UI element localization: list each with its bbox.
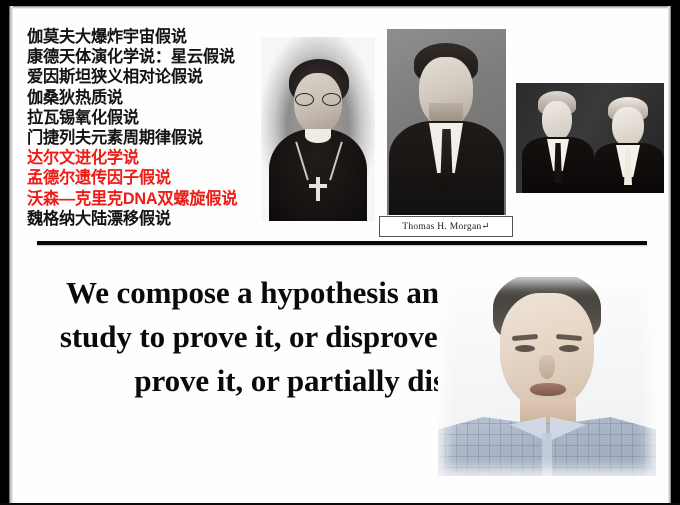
presenter-shirt-placket bbox=[542, 433, 552, 476]
section-divider-shadow bbox=[37, 245, 647, 247]
screen-share-capture: 伽莫夫大爆炸宇宙假说 康德天体演化学说：星云假说 爱因斯坦狭义相对论假说 伽桑狄… bbox=[0, 0, 680, 505]
eyeglasses-icon bbox=[294, 93, 342, 104]
presenter-mouth bbox=[530, 383, 566, 396]
portrait-face bbox=[542, 101, 572, 141]
presenter-eye-right bbox=[559, 345, 579, 352]
portrait-photo-watson-crick bbox=[516, 83, 664, 193]
frame-seam-top bbox=[9, 6, 671, 9]
hypothesis-item: 伽桑狄热质说 bbox=[27, 88, 277, 108]
hypothesis-item: 康德天体演化学说：星云假说 bbox=[27, 47, 277, 67]
hypothesis-item-highlighted: 沃森—克里克DNA双螺旋假说 bbox=[27, 189, 277, 209]
cross-pendant-icon bbox=[316, 177, 320, 201]
frame-seam-left bbox=[9, 6, 13, 505]
hypothesis-item: 拉瓦锡氧化假说 bbox=[27, 108, 277, 128]
presenter-video-overlay[interactable] bbox=[438, 277, 656, 476]
frame-border-top bbox=[0, 0, 680, 6]
presenter-nose bbox=[539, 355, 555, 379]
frame-border-right bbox=[671, 0, 680, 505]
hypothesis-list: 伽莫夫大爆炸宇宙假说 康德天体演化学说：星云假说 爱因斯坦狭义相对论假说 伽桑狄… bbox=[27, 27, 277, 229]
presenter-eye-left bbox=[515, 345, 535, 352]
portrait-photo-mendel bbox=[261, 37, 375, 221]
hypothesis-item: 伽莫夫大爆炸宇宙假说 bbox=[27, 27, 277, 47]
hypothesis-item: 门捷列夫元素周期律假说 bbox=[27, 128, 277, 148]
frame-border-left bbox=[0, 0, 9, 505]
cross-pendant-bar bbox=[309, 184, 327, 188]
photo-caption-morgan: Thomas H. Morgan↵ bbox=[379, 216, 513, 237]
portrait-collar bbox=[305, 129, 331, 143]
hypothesis-item-highlighted: 达尔文进化学说 bbox=[27, 148, 277, 168]
slide-upper-section: 伽莫夫大爆炸宇宙假说 康德天体演化学说：星云假说 爱因斯坦狭义相对论假说 伽桑狄… bbox=[13, 9, 669, 242]
hypothesis-item: 爱因斯坦狭义相对论假说 bbox=[27, 67, 277, 87]
portrait-photo-morgan bbox=[387, 29, 506, 215]
hypothesis-item-highlighted: 孟德尔遗传因子假说 bbox=[27, 168, 277, 188]
hypothesis-item: 魏格纳大陆漂移假说 bbox=[27, 209, 277, 229]
portrait-face bbox=[612, 107, 644, 147]
